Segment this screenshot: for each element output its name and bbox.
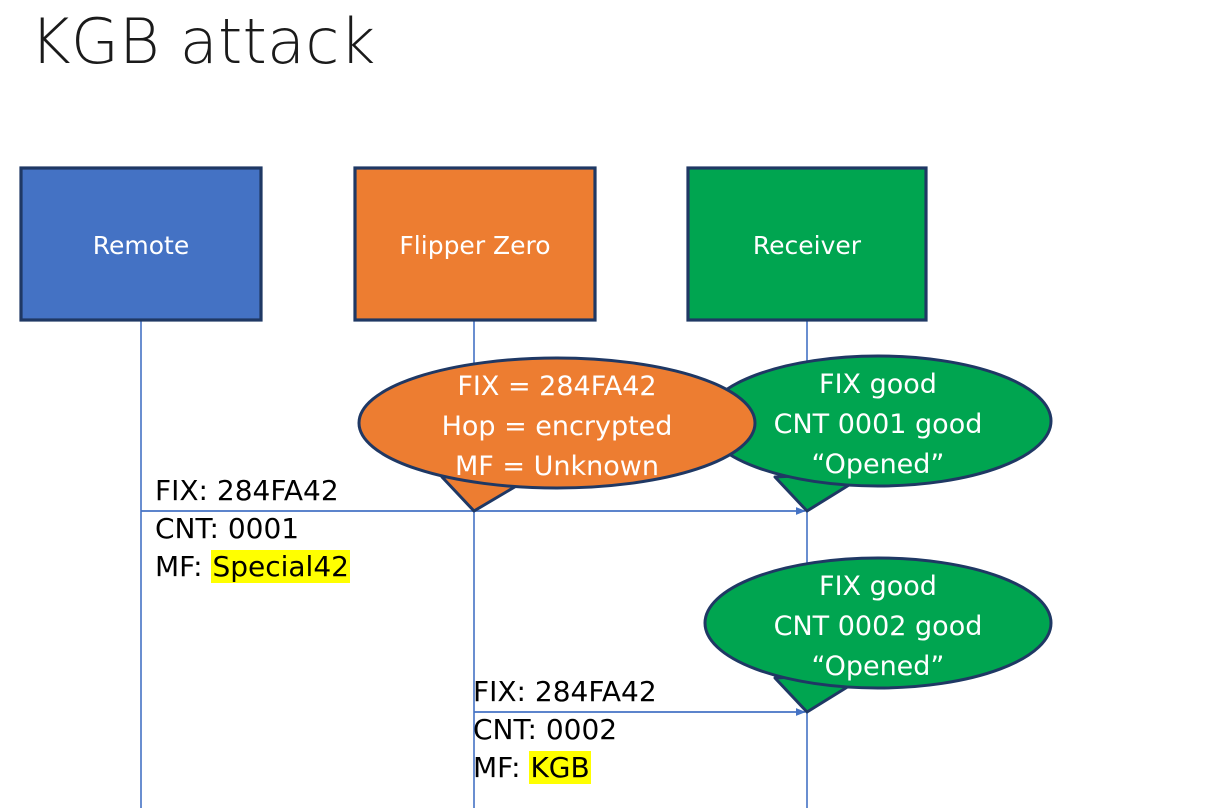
- message-line-prefix: CNT:: [473, 713, 546, 746]
- message-line-prefix: MF:: [473, 751, 529, 784]
- message-line: MF: KGB: [473, 749, 657, 787]
- callout-body-flipper-capture: [359, 358, 755, 488]
- actor-boxes: [21, 168, 926, 320]
- message-line-value: 0002: [546, 713, 617, 746]
- callout-receiver-ack-2[interactable]: [705, 558, 1051, 712]
- actor-box-receiver[interactable]: [688, 168, 926, 320]
- message-line-prefix: MF:: [155, 550, 211, 583]
- slide-canvas: KGB attack: [0, 0, 1218, 808]
- message-line-value: 284FA42: [535, 675, 657, 708]
- callout-body-receiver-ack-2: [705, 558, 1051, 688]
- message-label-1: FIX: 284FA42 CNT: 0001 MF: Special42: [155, 472, 350, 586]
- message-line: MF: Special42: [155, 548, 350, 586]
- message-line-prefix: FIX:: [473, 675, 535, 708]
- message-label-2: FIX: 284FA42 CNT: 0002 MF: KGB: [473, 673, 657, 787]
- message-line: FIX: 284FA42: [155, 472, 350, 510]
- callout-flipper-capture[interactable]: [359, 358, 755, 511]
- message-line-value-highlighted: KGB: [529, 751, 590, 784]
- actor-box-flipper[interactable]: [355, 168, 595, 320]
- message-line-prefix: FIX:: [155, 474, 217, 507]
- message-line: CNT: 0001: [155, 510, 350, 548]
- message-line-value: 284FA42: [217, 474, 339, 507]
- message-line-value: 0001: [228, 512, 299, 545]
- actor-box-remote[interactable]: [21, 168, 261, 320]
- message-line: FIX: 284FA42: [473, 673, 657, 711]
- callout-receiver-ack-1[interactable]: [705, 356, 1051, 511]
- message-line-value-highlighted: Special42: [211, 550, 350, 583]
- message-line-prefix: CNT:: [155, 512, 228, 545]
- message-line: CNT: 0002: [473, 711, 657, 749]
- callout-body-receiver-ack-1: [705, 356, 1051, 486]
